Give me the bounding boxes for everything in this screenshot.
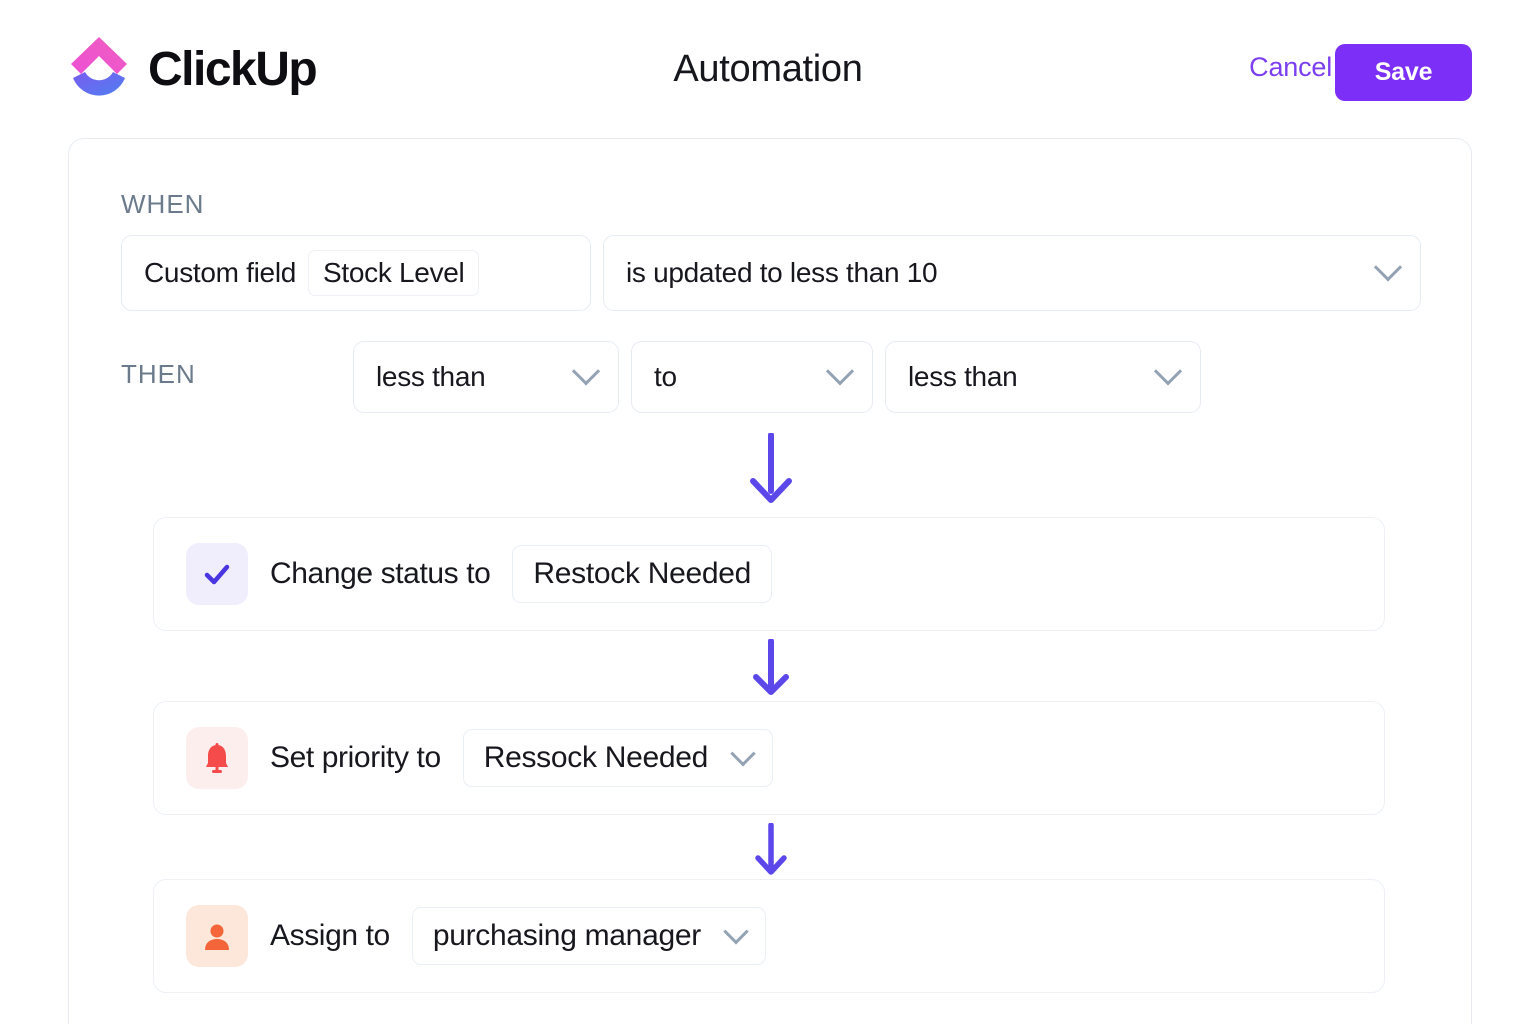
trigger-field-name[interactable]: Stock Level [308, 250, 479, 296]
cancel-button[interactable]: Cancel [1249, 52, 1332, 83]
chevron-down-icon [826, 357, 854, 385]
user-icon [186, 905, 248, 967]
action-value-text-3: purchasing manager [433, 919, 701, 953]
automation-page: ClickUp Automation Cancel Save WHEN Cust… [0, 0, 1536, 1024]
arrow-down-icon [751, 639, 791, 702]
save-button[interactable]: Save [1335, 44, 1472, 101]
app-header: ClickUp Automation Cancel Save [0, 0, 1536, 138]
condition-operator-select-2[interactable]: to [631, 341, 873, 413]
trigger-condition-value: is updated to less than 10 [626, 257, 937, 289]
chevron-down-icon [730, 741, 755, 766]
action-label-3: Assign to [270, 919, 390, 953]
chevron-down-icon [1374, 253, 1402, 281]
action-card-set-priority[interactable]: Set priority to Ressock Needed [153, 701, 1385, 815]
then-label: THEN [121, 359, 196, 390]
chevron-down-icon [572, 357, 600, 385]
flow-connector-2 [69, 639, 1473, 702]
flow-connector-1 [69, 433, 1473, 510]
action-label-2: Set priority to [270, 741, 441, 775]
flow-connector-3 [69, 823, 1473, 882]
action-value-1[interactable]: Restock Needed [512, 545, 772, 603]
action-value-text-2: Ressock Needed [484, 741, 708, 775]
condition-operator-value-1: less than [376, 361, 485, 393]
action-value-text-1: Restock Needed [533, 557, 751, 591]
trigger-field-type: Custom field [144, 257, 296, 289]
action-label-1: Change status to [270, 557, 490, 591]
bell-icon [186, 727, 248, 789]
condition-operator-select-3[interactable]: less than [885, 341, 1201, 413]
action-card-change-status[interactable]: Change status to Restock Needed [153, 517, 1385, 631]
check-icon [186, 543, 248, 605]
action-card-assign-to[interactable]: Assign to purchasing manager [153, 879, 1385, 993]
automation-builder-panel: WHEN Custom field Stock Level is updated… [68, 138, 1472, 1024]
chevron-down-icon [1154, 357, 1182, 385]
action-value-3[interactable]: purchasing manager [412, 907, 766, 965]
when-row: Custom field Stock Level is updated to l… [121, 235, 1421, 311]
condition-operator-select-1[interactable]: less than [353, 341, 619, 413]
action-value-2[interactable]: Ressock Needed [463, 729, 773, 787]
then-row: less than to less than [353, 341, 1201, 413]
condition-operator-value-3: less than [908, 361, 1017, 393]
chevron-down-icon [723, 919, 748, 944]
arrow-down-icon [753, 823, 789, 882]
trigger-condition-selector[interactable]: is updated to less than 10 [603, 235, 1421, 311]
when-label: WHEN [121, 189, 204, 220]
arrow-down-icon [748, 433, 794, 510]
condition-operator-value-2: to [654, 361, 677, 393]
trigger-field-selector[interactable]: Custom field Stock Level [121, 235, 591, 311]
